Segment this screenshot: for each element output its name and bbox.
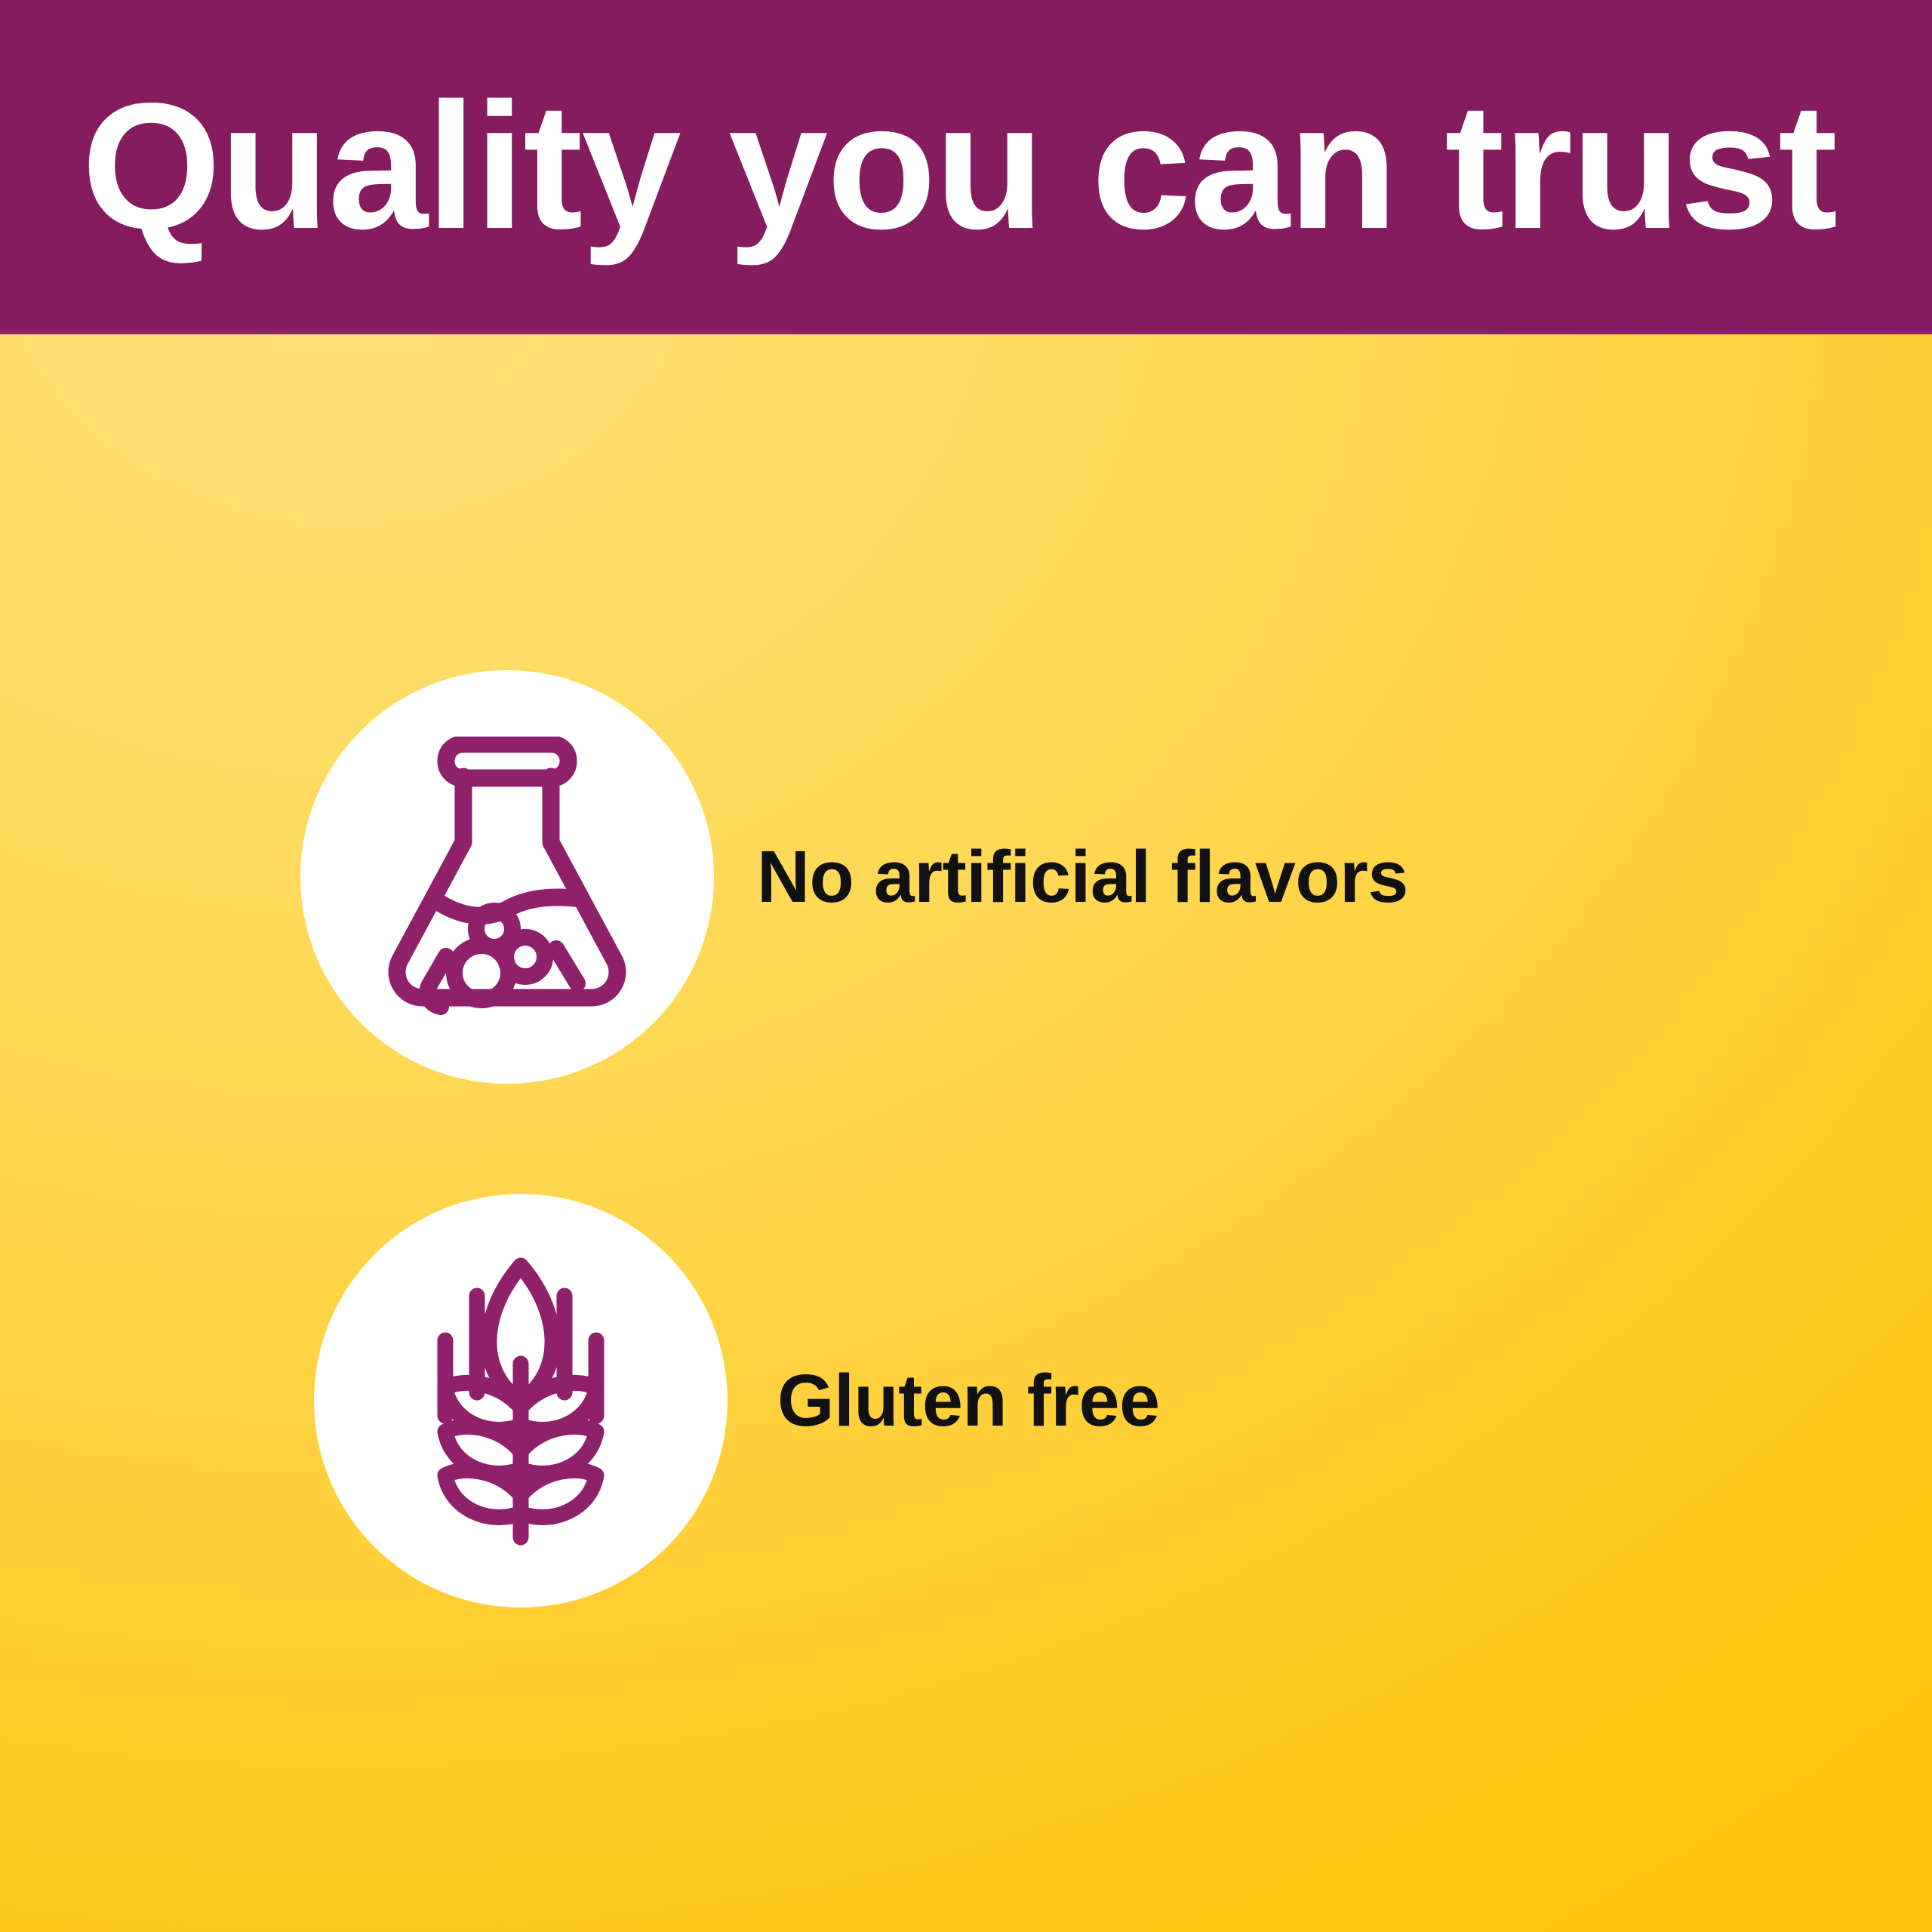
wheat-icon [426,1251,616,1551]
promo-card: Quality you can trust [0,0,1932,1932]
icon-badge [300,670,714,1084]
icon-badge [314,1194,728,1607]
feature-item-gluten-free: Gluten free [0,1194,1932,1607]
feature-label: Gluten free [777,1360,1160,1441]
feature-label: No artificial flavors [757,836,1408,918]
flask-icon [383,737,632,1017]
feature-list: No artificial flavors [0,334,1932,1932]
feature-item-no-artificial-flavors: No artificial flavors [0,670,1932,1084]
page-title: Quality you can trust [82,72,1878,261]
